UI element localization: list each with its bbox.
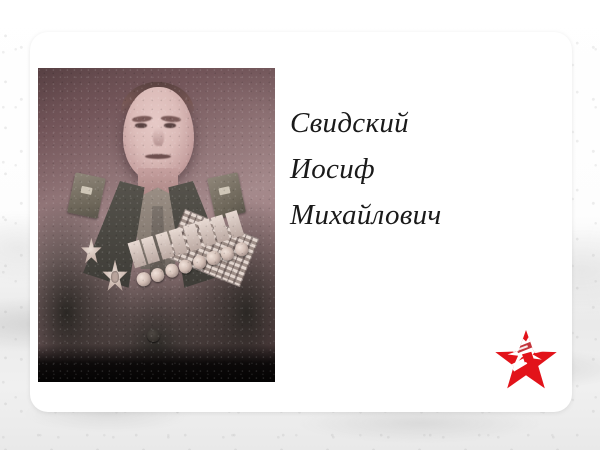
content-card: Свидский Иосиф Михайлович <box>30 32 572 412</box>
medal-disc <box>205 249 222 266</box>
portrait-shoulder-board-right <box>207 172 246 218</box>
medal-disc <box>163 262 180 279</box>
medal-disc <box>177 258 194 275</box>
name-patronymic: Михайлович <box>290 192 560 238</box>
red-star-icon <box>493 328 559 394</box>
slide-root: Свидский Иосиф Михайлович <box>0 0 600 450</box>
portrait-tunic-button <box>147 329 160 342</box>
medal-disc <box>135 271 152 288</box>
shoulder-board-pip <box>81 186 93 195</box>
portrait-photo <box>38 68 275 382</box>
portrait-mouth <box>145 154 171 159</box>
medal-disc <box>149 266 166 283</box>
medal-disc <box>191 254 208 271</box>
name-given: Иосиф <box>290 146 560 192</box>
medal-disc <box>233 241 250 258</box>
name-surname: Свидский <box>290 100 560 146</box>
shoulder-board-pip <box>219 186 231 195</box>
portrait-medal-row <box>131 225 275 324</box>
portrait-nose <box>153 128 164 147</box>
name-block: Свидский Иосиф Михайлович <box>290 100 560 238</box>
portrait-image <box>38 68 275 382</box>
medal-disc <box>219 245 236 262</box>
portrait-shoulder-board-left <box>67 172 106 218</box>
